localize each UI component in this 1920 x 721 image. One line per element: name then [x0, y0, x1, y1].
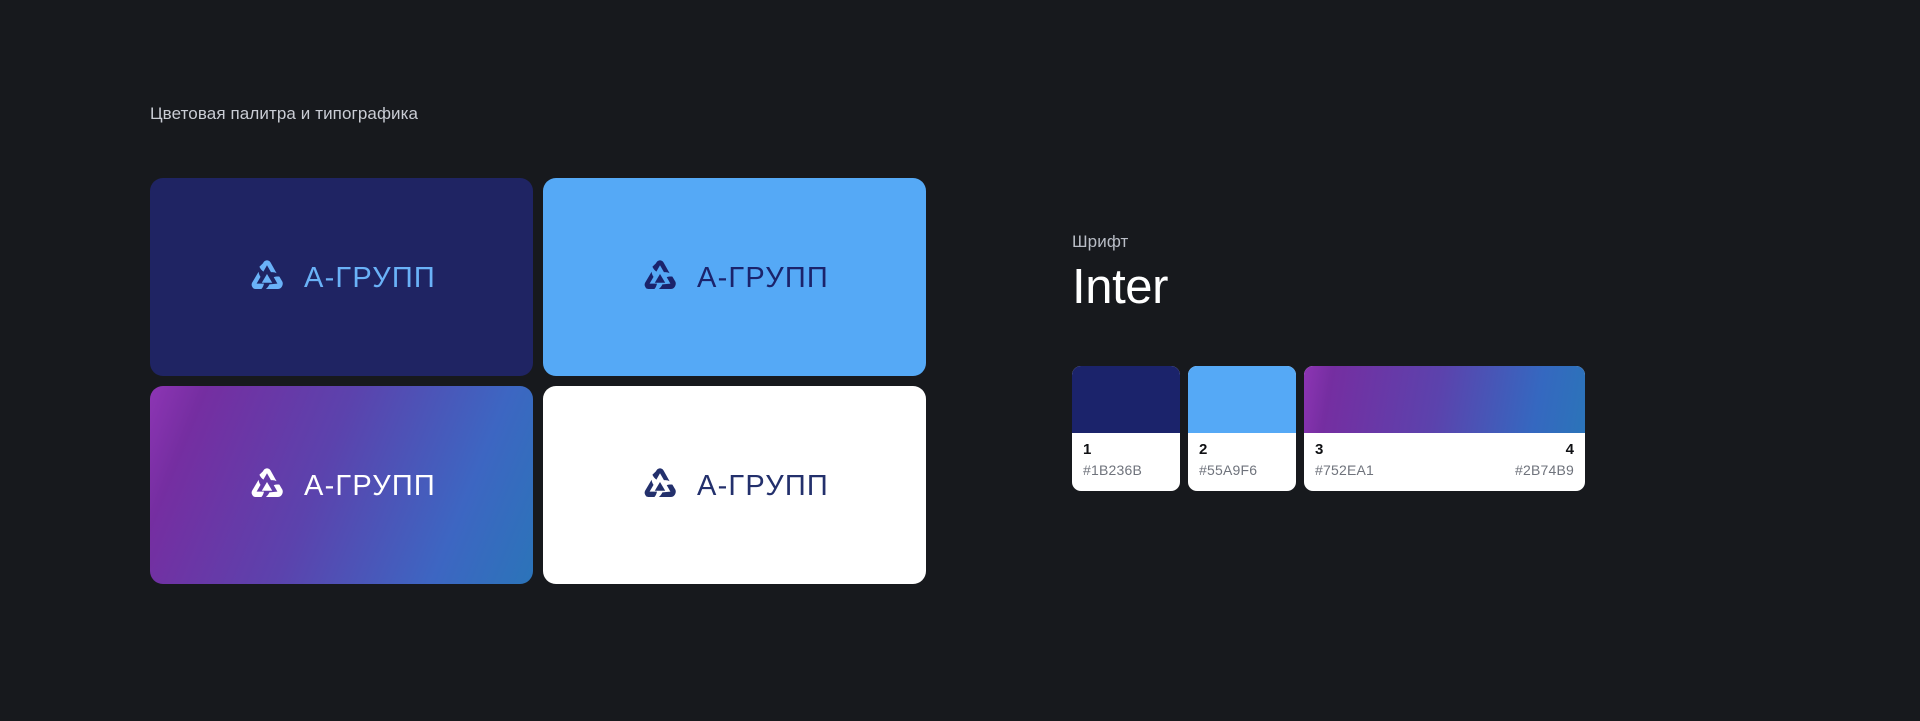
logo-card-white[interactable]: А-ГРУПП: [543, 386, 926, 584]
swatch-hex-row: #55A9F6: [1199, 463, 1285, 478]
color-swatch-2[interactable]: 2 #55A9F6: [1188, 366, 1296, 491]
logo-wordmark: А-ГРУПП: [304, 472, 436, 501]
swatch-meta: 3 4 #752EA1 #2B74B9: [1304, 433, 1585, 491]
swatch-index-row: 2: [1199, 442, 1285, 459]
swatch-index-end: 4: [1566, 442, 1574, 459]
swatch-gradient-chip: [1304, 366, 1585, 433]
logo-wordmark: А-ГРУПП: [304, 264, 436, 293]
a-grupp-emblem-icon: [247, 258, 287, 298]
swatch-hex-value: #1B236B: [1083, 463, 1142, 478]
logo-lockup: А-ГРУПП: [640, 466, 829, 506]
font-name: Inter: [1072, 261, 1168, 314]
color-swatch-1[interactable]: 1 #1B236B: [1072, 366, 1180, 491]
swatch-hex-value-start: #752EA1: [1315, 463, 1374, 478]
color-swatch-gradient-3-4[interactable]: 3 4 #752EA1 #2B74B9: [1304, 366, 1585, 491]
swatch-hex-value: #55A9F6: [1199, 463, 1257, 478]
swatch-hex-row: #752EA1 #2B74B9: [1315, 463, 1574, 478]
swatch-index-row: 3 4: [1315, 442, 1574, 459]
logo-lockup: А-ГРУПП: [640, 258, 829, 298]
swatch-index: 2: [1199, 442, 1207, 459]
color-palette: 1 #1B236B 2 #55A9F6 3: [1072, 366, 1585, 491]
swatch-hex-row: #1B236B: [1083, 463, 1169, 478]
swatch-hex-value-end: #2B74B9: [1515, 463, 1574, 478]
a-grupp-emblem-icon: [247, 466, 287, 506]
logo-card-navy[interactable]: А-ГРУПП: [150, 178, 533, 376]
logo-lockup: А-ГРУПП: [247, 466, 436, 506]
swatch-color-chip: [1188, 366, 1296, 433]
swatch-index: 1: [1083, 442, 1091, 459]
a-grupp-emblem-icon: [640, 258, 680, 298]
logo-card-light-blue[interactable]: А-ГРУПП: [543, 178, 926, 376]
logo-card-grid: А-ГРУПП А-ГРУПП: [150, 178, 926, 592]
a-grupp-emblem-icon: [640, 466, 680, 506]
logo-wordmark: А-ГРУПП: [697, 472, 829, 501]
logo-card-gradient[interactable]: А-ГРУПП: [150, 386, 533, 584]
font-label: Шрифт: [1072, 232, 1168, 252]
swatch-meta: 1 #1B236B: [1072, 433, 1180, 491]
logo-wordmark: А-ГРУПП: [697, 264, 829, 293]
swatch-meta: 2 #55A9F6: [1188, 433, 1296, 491]
swatch-color-chip: [1072, 366, 1180, 433]
swatch-index-start: 3: [1315, 442, 1323, 459]
swatch-index-row: 1: [1083, 442, 1169, 459]
logo-lockup: А-ГРУПП: [247, 258, 436, 298]
typography-block: Шрифт Inter: [1072, 232, 1168, 314]
brand-style-sheet: Цветовая палитра и типографика А-ГРУПП: [0, 0, 1920, 721]
page-title: Цветовая палитра и типографика: [150, 104, 418, 124]
